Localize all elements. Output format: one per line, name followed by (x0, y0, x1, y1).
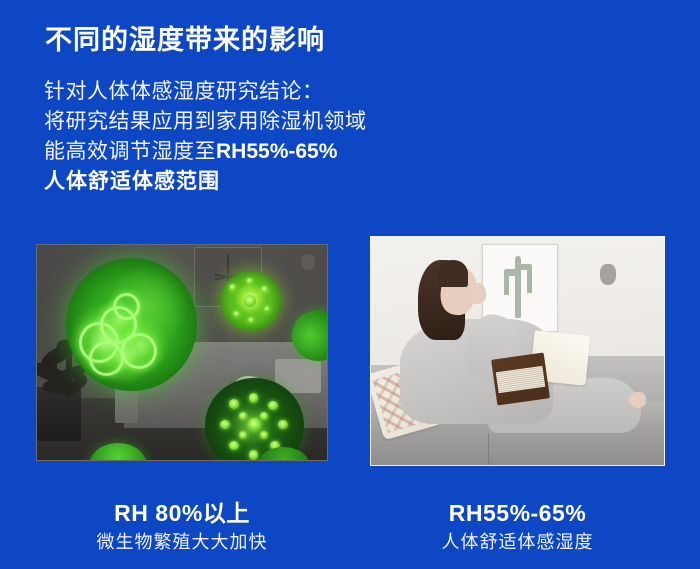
microbe-spike-icon (248, 317, 254, 323)
wall-object (600, 264, 616, 285)
microbe-core-icon (248, 418, 262, 431)
body-line-3-normal: 能高效调节湿度至 (44, 140, 216, 163)
microbe-spike-icon (233, 311, 240, 318)
microbe-spike-icon (239, 431, 247, 439)
photo-comfort-humidity (370, 236, 665, 466)
microbe-spike-icon (260, 412, 268, 420)
photo-high-humidity (36, 244, 328, 461)
microbe-spike-icon (278, 420, 288, 429)
caption-title: RH55%-65% (370, 498, 665, 528)
plant-stem (49, 359, 58, 393)
caption-subtitle: 人体舒适体感湿度 (370, 528, 665, 556)
microbe-ring-icon (113, 293, 140, 320)
microbe-cluster-large-icon (66, 258, 197, 391)
microbe-spike-icon (229, 399, 239, 408)
microbe-spike-icon (268, 401, 278, 410)
cactus-icon (515, 256, 522, 318)
caption-high-humidity: RH 80%以上 微生物繁殖大大加快 (36, 498, 328, 556)
microbe-spike-icon (239, 412, 247, 420)
cactus-arm-icon (504, 269, 509, 295)
body-line-3: 能高效调节湿度至RH55%-65% (44, 137, 367, 167)
caption-comfort-humidity: RH55%-65% 人体舒适体感湿度 (370, 498, 665, 556)
page-title: 不同的湿度带来的影响 (45, 18, 325, 57)
body-line-1: 针对人体体感湿度研究结论： (44, 77, 367, 107)
caption-subtitle: 微生物繁殖大大加快 (36, 528, 328, 556)
microbe-spike-icon (249, 393, 259, 402)
microbe-spike-icon (229, 441, 239, 450)
microbe-spike-icon (246, 278, 252, 284)
body-copy: 针对人体体感湿度研究结论： 将研究结果应用到家用除湿机领域 能高效调节湿度至RH… (44, 77, 367, 197)
microbe-ring-icon (121, 333, 157, 370)
sofa-seam (488, 433, 489, 465)
body-line-4: 人体舒适体感范围 (44, 167, 367, 197)
cactus-arm-icon (527, 264, 532, 293)
microbe-ring-icon (89, 341, 124, 376)
plant-stem (66, 353, 72, 392)
humidity-range-emphasis: RH55%-65% (216, 140, 337, 163)
microbe-spike-icon (264, 306, 271, 313)
microbe-spike-icon (261, 286, 268, 293)
person-hair-top (438, 260, 467, 287)
wall-sensor-icon (301, 254, 315, 270)
microbe-bright-icon (220, 271, 281, 331)
humidity-infographic-page: 不同的湿度带来的影响 针对人体体感湿度研究结论： 将研究结果应用到家用除湿机领域… (0, 0, 700, 569)
microbe-spike-icon (229, 284, 236, 291)
microbe-spike-icon (249, 450, 259, 459)
body-line-2: 将研究结果应用到家用除湿机领域 (44, 107, 367, 137)
microbe-spike-icon (220, 420, 230, 429)
microbe-core-icon (244, 295, 256, 307)
caption-title: RH 80%以上 (36, 498, 328, 528)
plant-pot (36, 387, 81, 441)
microbe-spike-icon (260, 431, 268, 439)
person-foot (629, 392, 647, 408)
